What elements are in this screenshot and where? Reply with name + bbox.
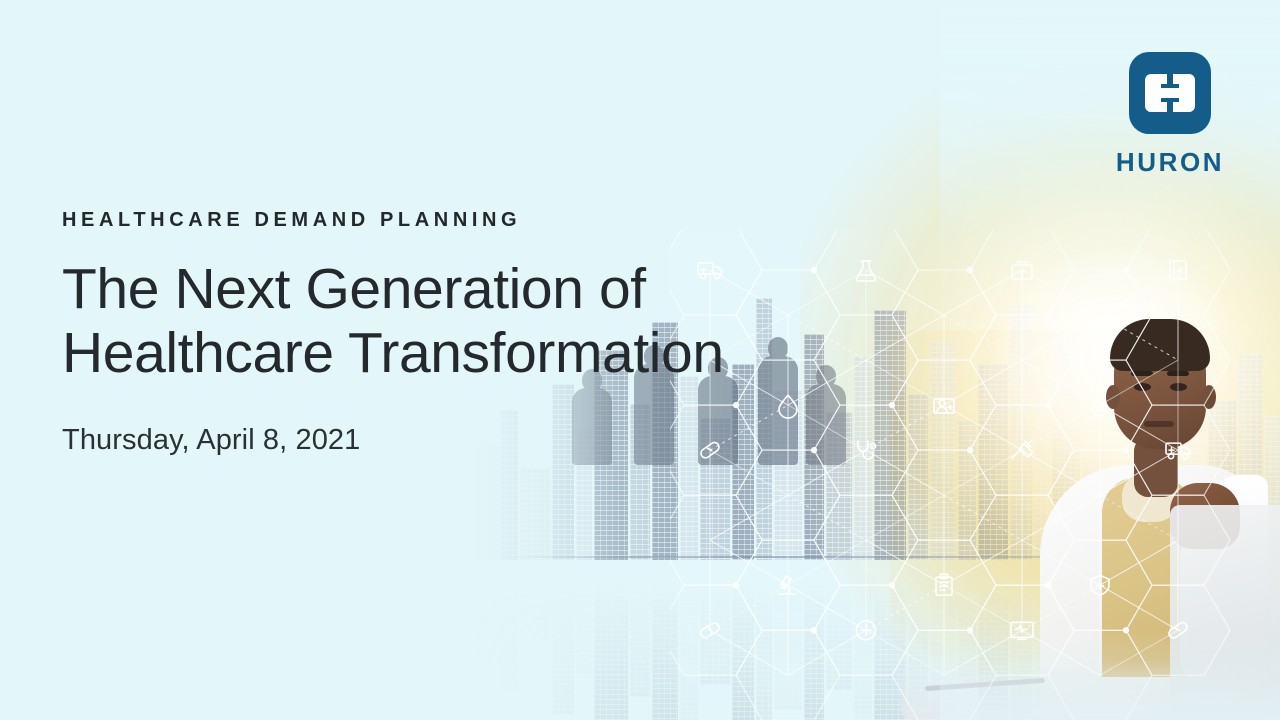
glow-core bbox=[890, 160, 1280, 590]
building bbox=[930, 342, 956, 560]
building bbox=[804, 560, 824, 720]
building bbox=[1104, 560, 1130, 720]
building bbox=[1184, 560, 1206, 720]
microscope-icon bbox=[779, 576, 795, 594]
building bbox=[1052, 560, 1080, 720]
shield-icon bbox=[1091, 575, 1109, 595]
building bbox=[874, 310, 906, 560]
title-text-block: HEALTHCARE DEMAND PLANNING The Next Gene… bbox=[62, 210, 862, 457]
building bbox=[1264, 416, 1280, 560]
building bbox=[1238, 354, 1262, 560]
syringe-icon bbox=[1012, 440, 1033, 458]
desk-surface bbox=[900, 660, 1280, 720]
huron-mark-icon bbox=[1129, 52, 1211, 134]
gold-wash bbox=[890, 330, 1280, 720]
building bbox=[594, 560, 628, 720]
building bbox=[680, 560, 698, 720]
wheelchair-icon bbox=[1092, 397, 1111, 416]
healthcare-professional bbox=[1030, 215, 1280, 720]
building bbox=[1208, 400, 1236, 560]
building bbox=[908, 394, 928, 560]
bottom-fade bbox=[940, 630, 1280, 720]
page-title: The Next Generation of Healthcare Transf… bbox=[62, 258, 862, 386]
building bbox=[978, 364, 1008, 560]
building bbox=[652, 560, 678, 720]
building bbox=[1152, 560, 1182, 717]
building bbox=[958, 420, 976, 560]
building bbox=[854, 560, 872, 720]
building bbox=[1082, 560, 1102, 692]
building bbox=[520, 468, 550, 560]
patient-badge-icon bbox=[934, 399, 954, 413]
building bbox=[520, 560, 550, 641]
building bbox=[978, 560, 1008, 720]
building bbox=[500, 560, 518, 692]
eyebrow-label: HEALTHCARE DEMAND PLANNING bbox=[62, 210, 862, 230]
building bbox=[1010, 560, 1032, 720]
building bbox=[1132, 560, 1150, 720]
building bbox=[1132, 296, 1150, 560]
building bbox=[474, 442, 500, 560]
heart-monitor-icon bbox=[1011, 622, 1033, 639]
building bbox=[930, 560, 956, 720]
huron-wordmark: HURON bbox=[1110, 147, 1230, 178]
waterline bbox=[470, 556, 1280, 558]
building bbox=[1152, 382, 1182, 560]
building bbox=[756, 560, 772, 720]
building bbox=[958, 560, 976, 683]
ambulance-icon bbox=[1166, 443, 1190, 459]
brand-logo: HURON bbox=[1110, 52, 1230, 178]
building bbox=[908, 560, 928, 706]
building bbox=[1010, 304, 1032, 560]
first-aid-kit-icon bbox=[1012, 262, 1032, 279]
headline-line-1: The Next Generation of bbox=[62, 257, 646, 321]
laptop bbox=[1170, 505, 1280, 720]
pen bbox=[925, 678, 1045, 691]
building bbox=[732, 560, 754, 720]
building bbox=[474, 560, 500, 664]
building bbox=[1082, 410, 1102, 560]
title-slide: HEALTHCARE DEMAND PLANNING The Next Gene… bbox=[0, 0, 1280, 720]
building bbox=[700, 560, 730, 685]
building bbox=[576, 560, 592, 674]
event-date: Thursday, April 8, 2021 bbox=[62, 424, 862, 457]
capsule-icon bbox=[1167, 621, 1189, 640]
building bbox=[1264, 560, 1280, 687]
building bbox=[1104, 360, 1130, 560]
building bbox=[826, 560, 852, 690]
building bbox=[874, 560, 906, 720]
building bbox=[630, 560, 650, 697]
building bbox=[1052, 332, 1080, 560]
clipboard-icon bbox=[936, 574, 952, 595]
building bbox=[552, 560, 574, 715]
book-icon bbox=[1170, 261, 1186, 279]
medical-cross-icon bbox=[857, 621, 876, 640]
building bbox=[1238, 560, 1262, 720]
building bbox=[1034, 560, 1050, 711]
building bbox=[774, 560, 802, 710]
building bbox=[1184, 328, 1206, 560]
building bbox=[1034, 388, 1050, 560]
pill-icon bbox=[699, 621, 721, 639]
building bbox=[1208, 560, 1236, 701]
headline-line-2: Healthcare Transformation bbox=[62, 322, 862, 386]
